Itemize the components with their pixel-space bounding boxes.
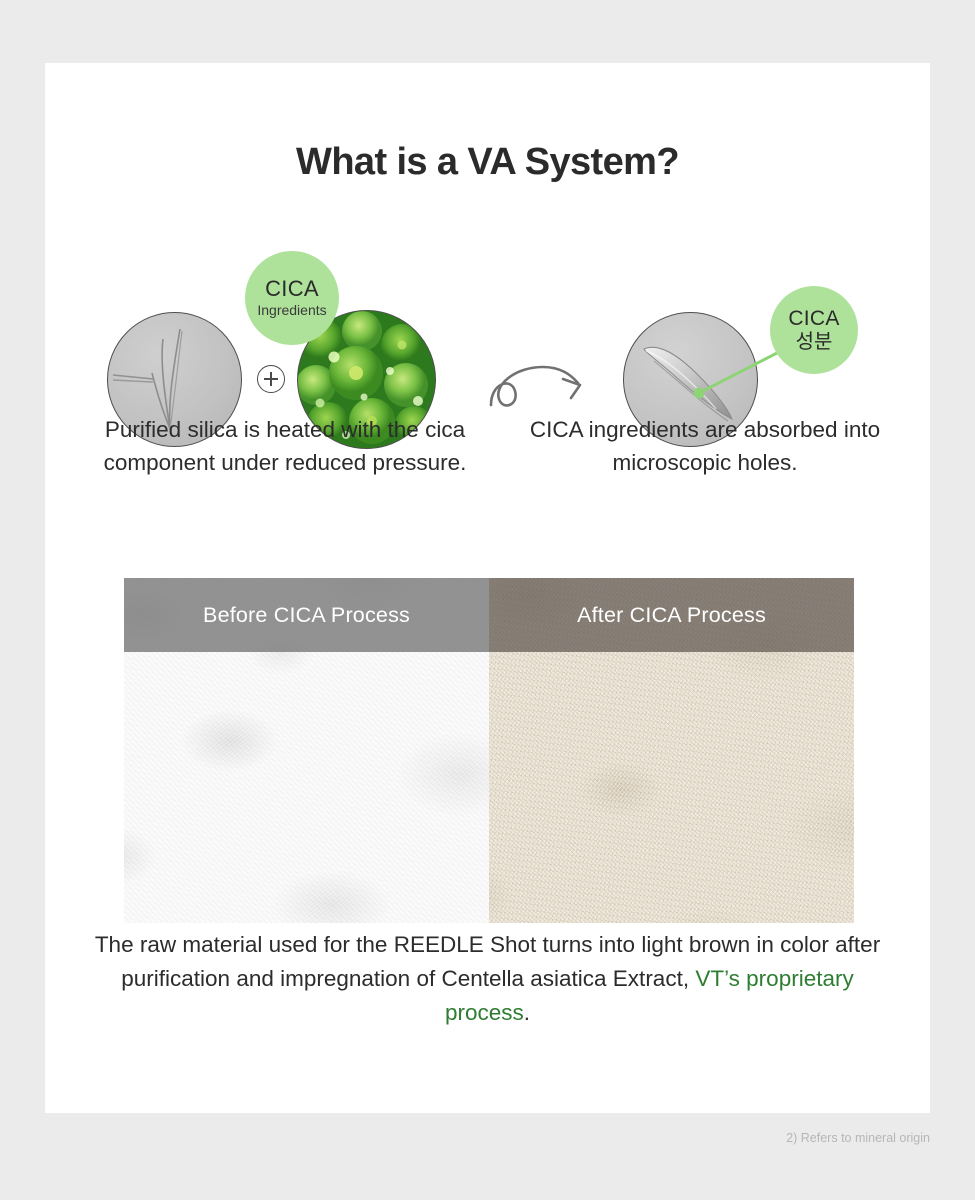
footnote: 2) Refers to mineral origin [0, 1131, 930, 1145]
badge-left-main: CICA [265, 277, 319, 301]
footer-paragraph: The raw material used for the REEDLE Sho… [85, 928, 890, 1030]
page-title: What is a VA System? [45, 141, 930, 184]
curly-arrow-icon [485, 343, 590, 418]
plus-circle-icon [257, 365, 285, 393]
badge-right-sub: 성분 [796, 331, 833, 353]
before-pane: Before CICA Process [124, 578, 489, 923]
after-pane: After CICA Process [489, 578, 854, 923]
footer-part3: . [524, 1000, 530, 1025]
caption-right: CICA ingredients are absorbed into micro… [515, 413, 895, 479]
comparison-panel: Before CICA Process After CICA Process [124, 578, 854, 923]
badge-left-sub: Ingredients [257, 303, 326, 318]
cica-korean-badge: CICA 성분 [770, 286, 858, 374]
infographic-page: What is a VA System? [0, 0, 975, 1200]
after-pane-label: After CICA Process [489, 578, 854, 652]
caption-left: Purified silica is heated with the cica … [85, 413, 485, 479]
before-pane-label: Before CICA Process [124, 578, 489, 652]
cica-ingredients-badge: CICA Ingredients [245, 251, 339, 345]
content-card: What is a VA System? [45, 63, 930, 1113]
badge-right-main: CICA [788, 307, 839, 330]
